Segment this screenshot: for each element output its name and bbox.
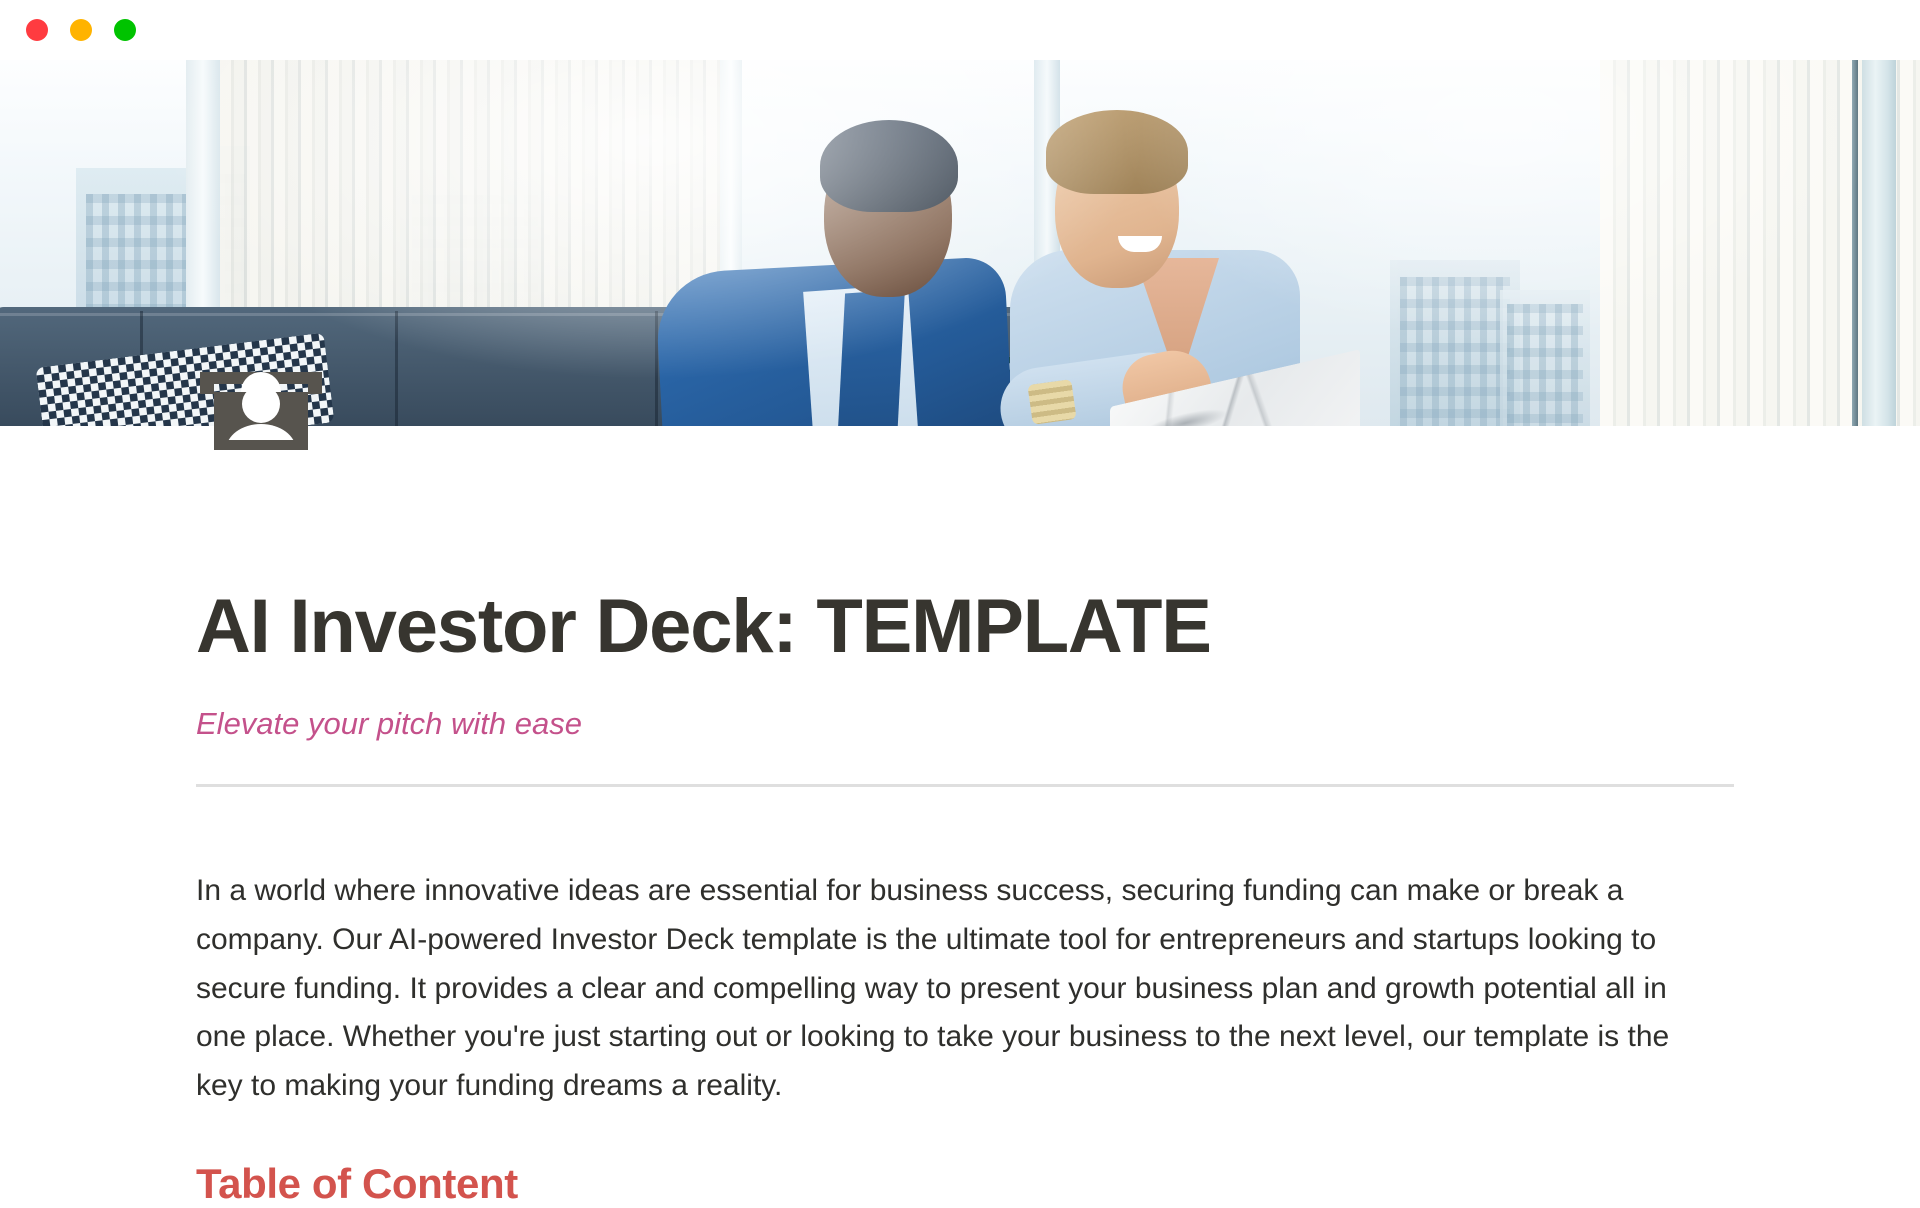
intro-paragraph[interactable]: In a world where innovative ideas are es…	[196, 867, 1716, 1110]
page-content-column: AI Investor Deck: TEMPLATE Elevate your …	[196, 426, 1756, 1208]
window-title-bar	[0, 0, 1920, 60]
person-right-cuff	[1027, 379, 1076, 425]
traffic-light-group	[26, 19, 136, 41]
person-right-hair	[1046, 110, 1188, 194]
person-left-lapel	[835, 289, 905, 426]
page-body: AI Investor Deck: TEMPLATE Elevate your …	[0, 426, 1920, 1208]
close-window-button[interactable]	[26, 19, 48, 41]
money-stack-icon[interactable]	[196, 366, 326, 454]
page-title[interactable]: AI Investor Deck: TEMPLATE	[196, 426, 1756, 668]
building-far-right	[1500, 290, 1590, 426]
page-subtitle[interactable]: Elevate your pitch with ease	[196, 704, 1756, 744]
horizontal-divider	[196, 784, 1734, 787]
maximize-window-button[interactable]	[114, 19, 136, 41]
window-glass-edge	[1852, 60, 1858, 426]
window-glass-strip	[1862, 60, 1896, 426]
minimize-window-button[interactable]	[70, 19, 92, 41]
person-left-hair	[820, 120, 958, 212]
section-heading-table-of-content[interactable]: Table of Content	[196, 1160, 1756, 1208]
